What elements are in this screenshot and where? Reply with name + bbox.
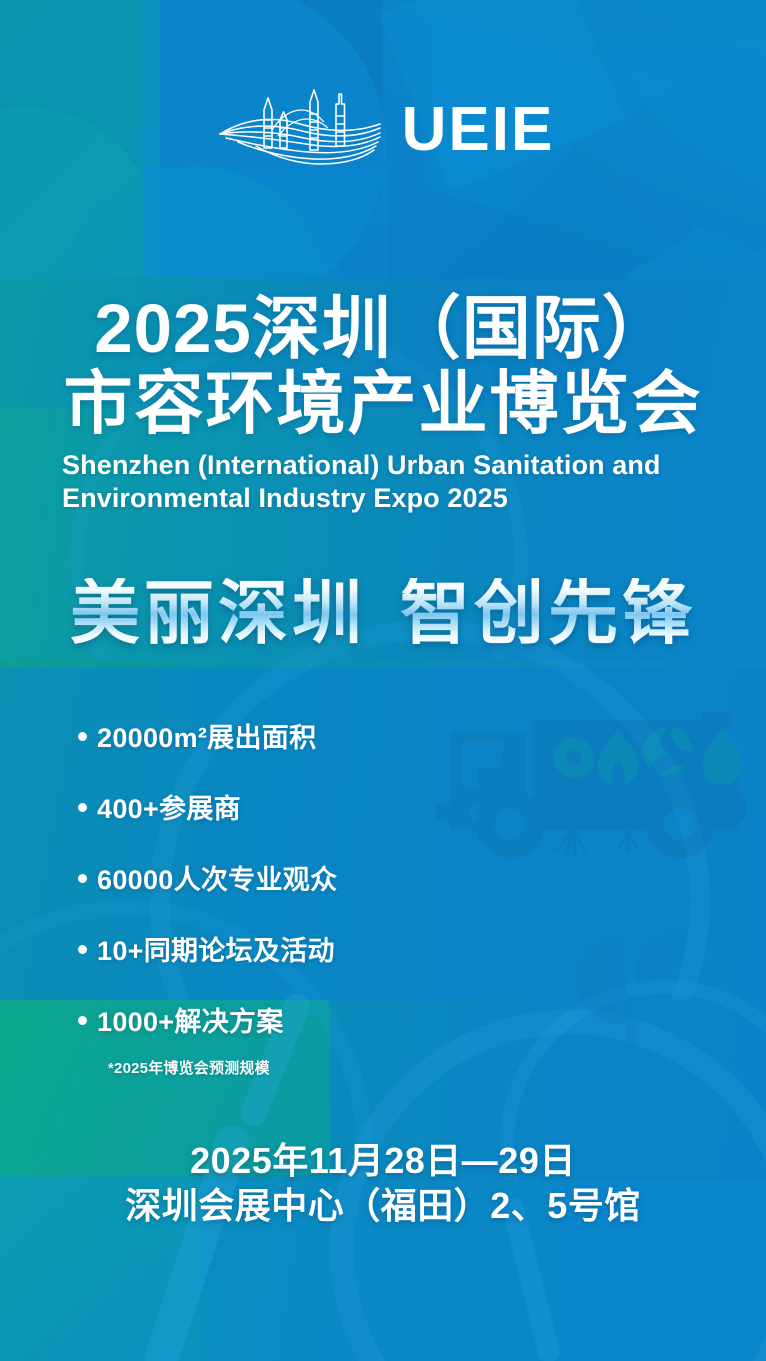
bullet-dot-icon bbox=[78, 1016, 87, 1025]
footer-info: 2025年11月28日—29日 深圳会展中心（福田）2、5号馆 bbox=[0, 1140, 766, 1229]
event-date: 2025年11月28日—29日 bbox=[0, 1140, 766, 1182]
bullet-dot-icon bbox=[78, 874, 87, 883]
title-cn-line2: 市容环境产业博览会 bbox=[0, 367, 766, 442]
fact-text: 1000+解决方案 bbox=[97, 1000, 284, 1039]
fact-text: 60000人次专业观众 bbox=[97, 858, 337, 897]
list-item: 60000人次专业观众 bbox=[78, 858, 548, 897]
poster-root: UEIE 2025深圳（国际） 市容环境产业博览会 Shenzhen (Inte… bbox=[0, 0, 766, 1361]
slogan-part-two: 智创先锋 bbox=[400, 574, 696, 652]
fact-text: 20000m²展出面积 bbox=[97, 716, 316, 755]
bullet-dot-icon bbox=[78, 945, 87, 954]
slogan: 美丽深圳智创先锋 bbox=[0, 578, 766, 648]
list-item: 1000+解决方案 bbox=[78, 1000, 548, 1039]
title-en-line1: Shenzhen (International) Urban Sanitatio… bbox=[62, 449, 706, 482]
fact-text: 400+参展商 bbox=[97, 787, 241, 826]
facts-footnote: *2025年博览会预测规模 bbox=[108, 1057, 548, 1078]
title-block: 2025深圳（国际） 市容环境产业博览会 Shenzhen (Internati… bbox=[0, 292, 766, 515]
plant-sprout-illustration bbox=[540, 905, 730, 1115]
fact-text: 10+同期论坛及活动 bbox=[97, 929, 335, 968]
list-item: 20000m²展出面积 bbox=[78, 716, 548, 755]
bullet-dot-icon bbox=[78, 803, 87, 812]
title-en-line2: Environmental Industry Expo 2025 bbox=[62, 482, 706, 515]
facts-list: 20000m²展出面积 400+参展商 60000人次专业观众 10+同期论坛及… bbox=[78, 716, 548, 1078]
bullet-dot-icon bbox=[78, 732, 87, 741]
list-item: 400+参展商 bbox=[78, 787, 548, 826]
page-title: 2025深圳（国际） 市容环境产业博览会 bbox=[0, 292, 766, 441]
slogan-part-one: 美丽深圳 bbox=[70, 574, 366, 652]
skyline-wave-logo-icon bbox=[212, 84, 392, 176]
list-item: 10+同期论坛及活动 bbox=[78, 929, 548, 968]
title-cn-line1: 2025深圳（国际） bbox=[94, 290, 672, 367]
event-venue: 深圳会展中心（福田）2、5号馆 bbox=[0, 1184, 766, 1229]
title-english: Shenzhen (International) Urban Sanitatio… bbox=[0, 449, 766, 515]
brand-logo-text: UEIE bbox=[402, 99, 555, 161]
brand-logo[interactable]: UEIE bbox=[0, 80, 766, 180]
